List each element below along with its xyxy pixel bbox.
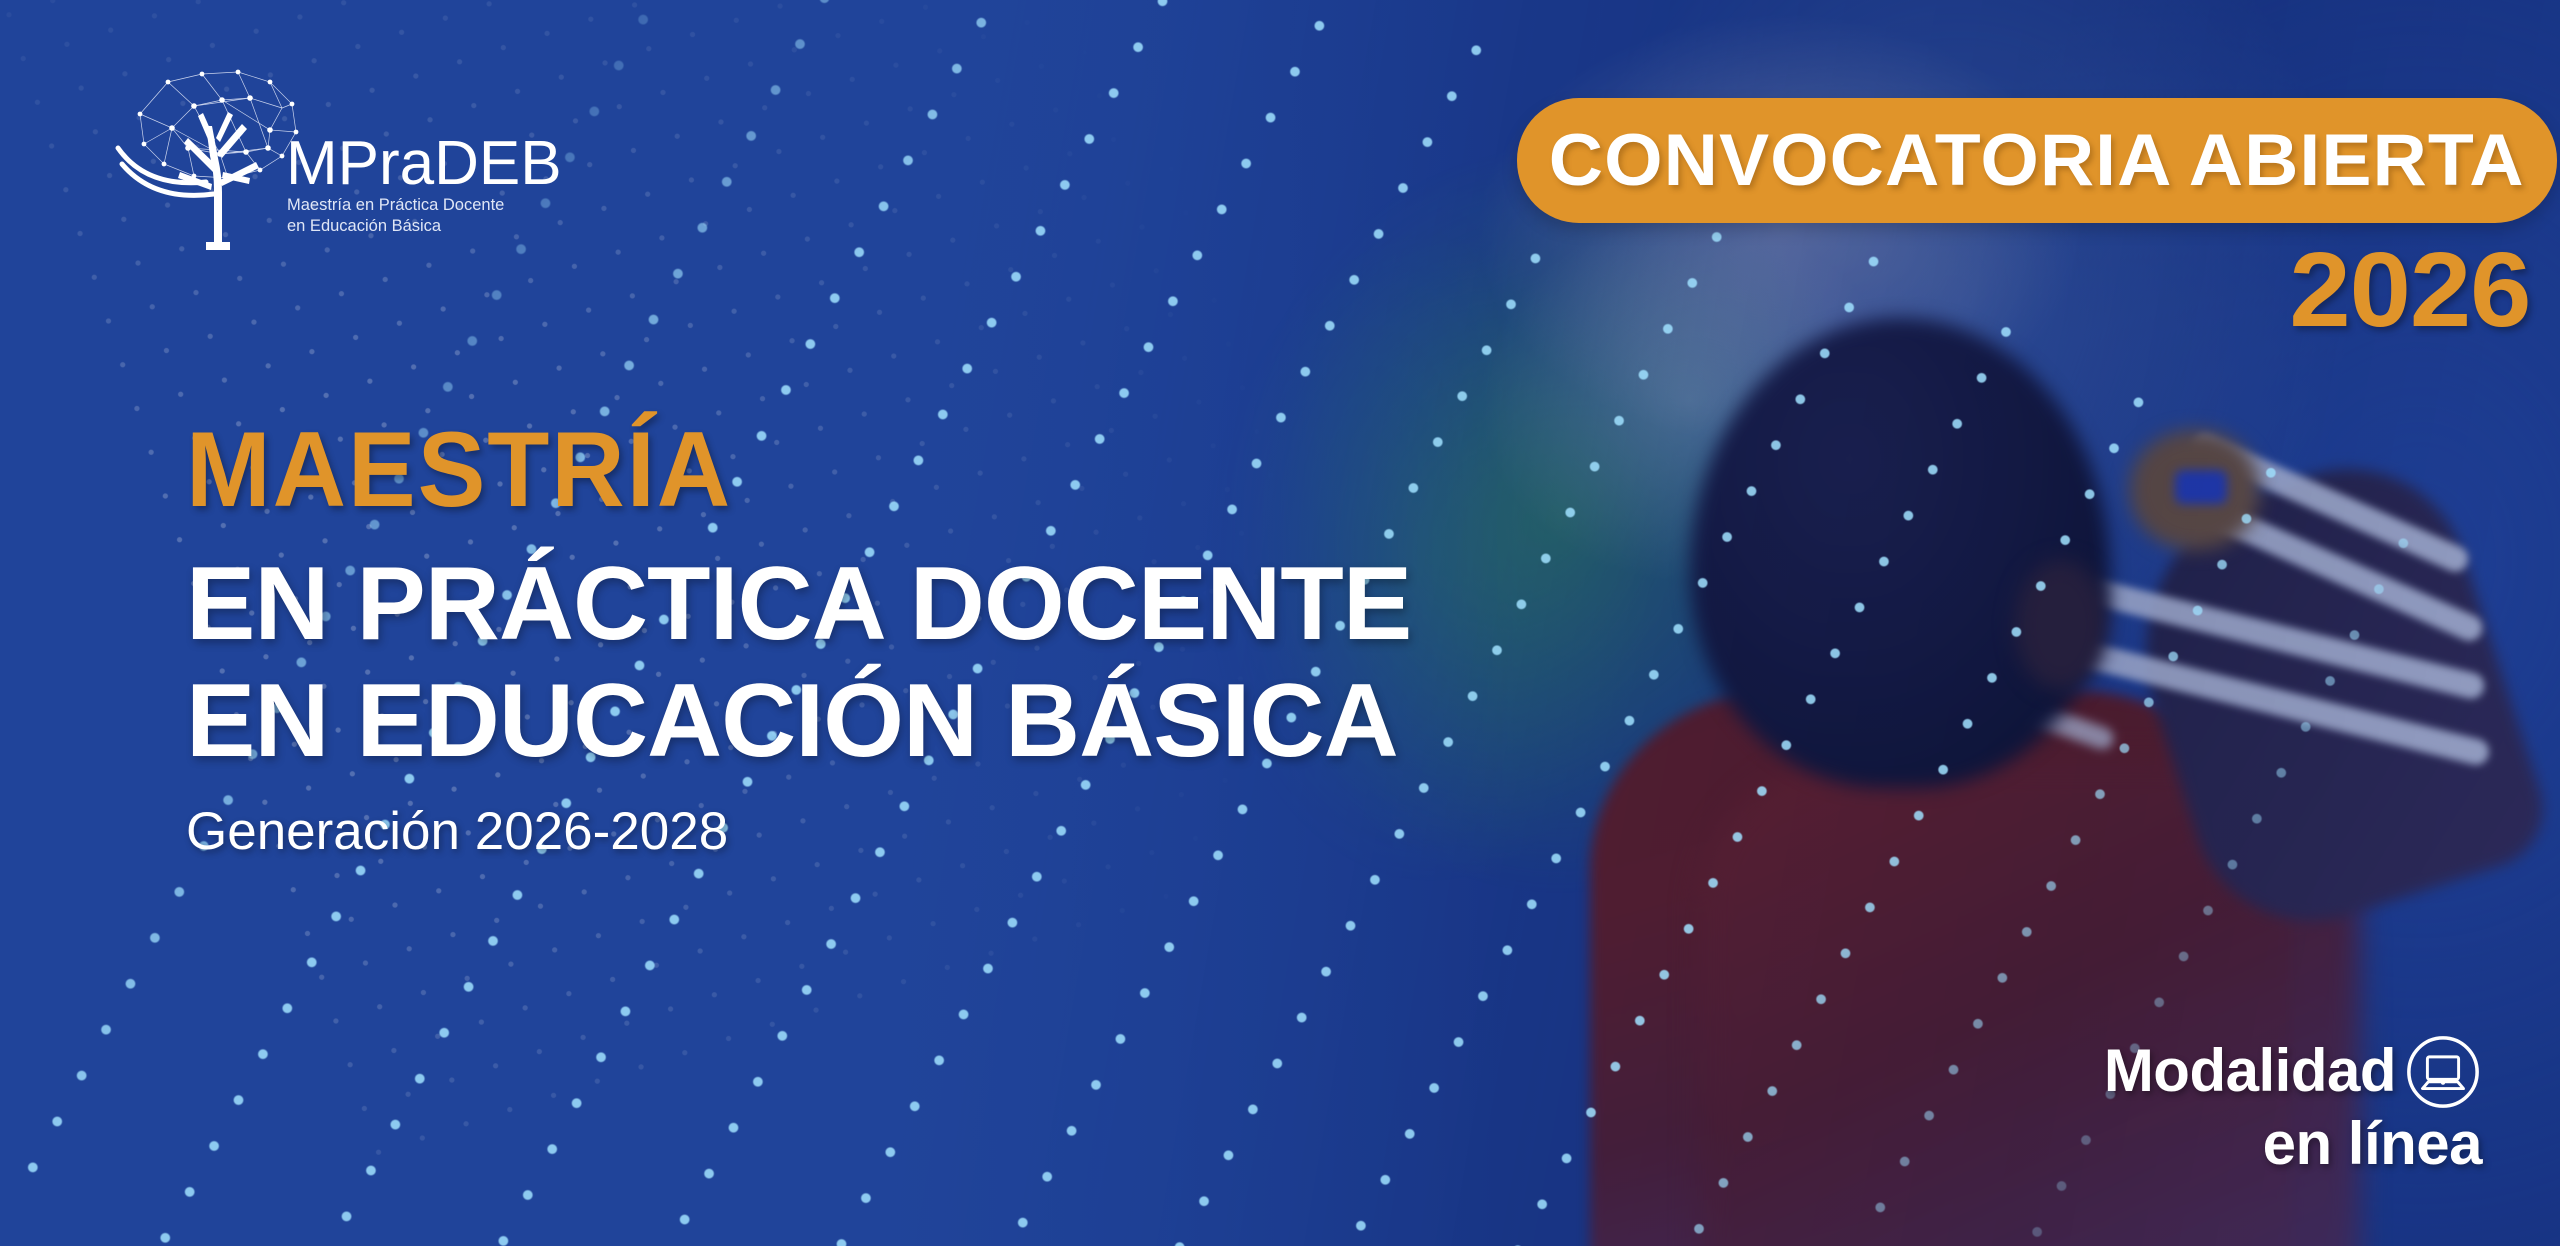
- laptop-icon: [2404, 1033, 2482, 1111]
- generation-label: Generación 2026-2028: [186, 801, 1411, 862]
- logo-tagline-line2: en Educación Básica: [287, 217, 442, 235]
- convocatoria-abierta-pill: CONVOCATORIA ABIERTA: [1517, 98, 2557, 223]
- headline-line-1: EN PRÁCTICA DOCENTE: [186, 546, 1411, 662]
- headline-eyebrow: MAESTRÍA: [186, 415, 1350, 524]
- promo-banner: MPraDEB Maestría en Práctica Docente en …: [0, 0, 2560, 1246]
- convocatoria-label: CONVOCATORIA ABIERTA: [1549, 119, 2525, 202]
- headline-block: MAESTRÍA EN PRÁCTICA DOCENTE EN EDUCACIÓ…: [186, 415, 1411, 862]
- modality-line-1: Modalidad: [2104, 1042, 2396, 1101]
- modality-line-2: en línea: [2104, 1113, 2482, 1174]
- mpradeb-logo: MPraDEB Maestría en Práctica Docente en …: [110, 52, 590, 267]
- logo-acronym: MPraDEB: [286, 129, 562, 198]
- logo-tagline-line1: Maestría en Práctica Docente: [287, 196, 504, 214]
- headline-line-2: EN EDUCACIÓN BÁSICA: [186, 663, 1411, 779]
- convocatoria-year: 2026: [2290, 237, 2531, 343]
- modality-badge: Modalidad en línea: [2104, 1033, 2482, 1174]
